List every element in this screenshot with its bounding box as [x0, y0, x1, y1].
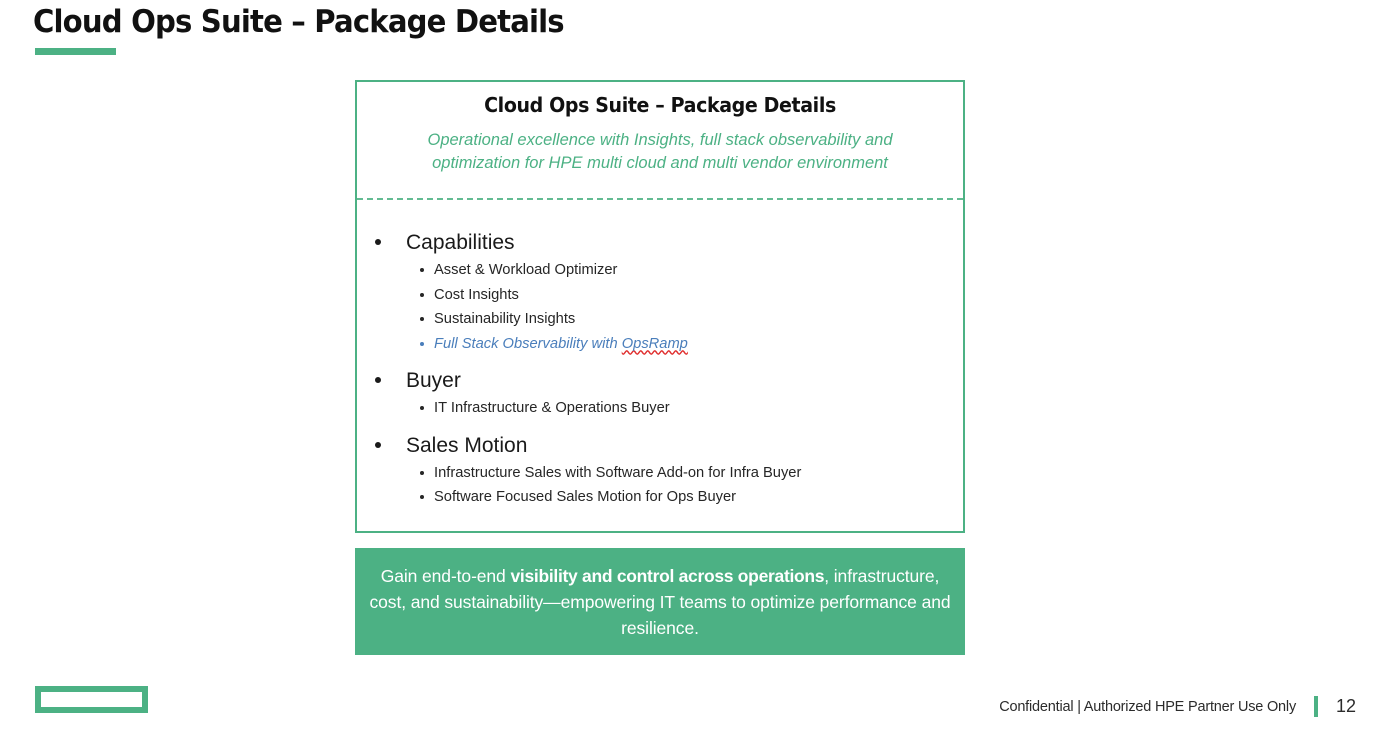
list-item: IT Infrastructure & Operations Buyer [406, 396, 953, 421]
bullet-section-sales-motion: Sales Motion Infrastructure Sales with S… [373, 432, 953, 510]
sub-bullet-dot-icon [420, 293, 424, 297]
sub-bullet-dot-icon [420, 406, 424, 410]
page-number: 12 [1334, 696, 1356, 717]
capabilities-list: Capabilities Asset & Workload Optimizer … [373, 229, 953, 510]
section-heading: Capabilities [406, 231, 515, 254]
list-item: Software Focused Sales Motion for Ops Bu… [406, 485, 953, 510]
spellcheck-flagged-word[interactable]: OpsRamp [622, 336, 688, 352]
value-statement-callout: Gain end-to-end visibility and control a… [355, 548, 965, 655]
list-item-label: Cost Insights [434, 287, 519, 303]
package-details-card: Cloud Ops Suite – Package Details Operat… [355, 80, 965, 533]
confidentiality-note: Confidential | Authorized HPE Partner Us… [999, 699, 1296, 715]
sub-bullet-dot-icon [420, 471, 424, 475]
list-item-label: Infrastructure Sales with Software Add-o… [434, 465, 801, 481]
sub-list: IT Infrastructure & Operations Buyer [406, 396, 953, 421]
list-item-opsramp-link[interactable]: Full Stack Observability with OpsRamp [406, 332, 953, 357]
list-item-label: Asset & Workload Optimizer [434, 262, 617, 278]
list-item-label: Full Stack Observability with [434, 336, 622, 352]
sub-list: Asset & Workload Optimizer Cost Insights… [406, 258, 953, 356]
section-heading: Buyer [406, 369, 461, 392]
bullet-section-capabilities: Capabilities Asset & Workload Optimizer … [373, 229, 953, 356]
sub-list: Infrastructure Sales with Software Add-o… [406, 461, 953, 510]
sub-bullet-dot-icon [420, 342, 424, 346]
slide-canvas: Cloud Ops Suite – Package Details Cloud … [0, 0, 1380, 737]
footer: Confidential | Authorized HPE Partner Us… [999, 696, 1356, 717]
hpe-logo [35, 686, 148, 713]
section-heading: Sales Motion [406, 434, 527, 457]
bullet-section-buyer: Buyer IT Infrastructure & Operations Buy… [373, 367, 953, 421]
list-item-label: Software Focused Sales Motion for Ops Bu… [434, 489, 736, 505]
list-item-label: Sustainability Insights [434, 311, 575, 327]
bullet-dot-icon [375, 442, 381, 448]
sub-bullet-dot-icon [420, 317, 424, 321]
list-item: Infrastructure Sales with Software Add-o… [406, 461, 953, 486]
callout-lead: Gain end-to-end [381, 566, 511, 586]
card-title: Cloud Ops Suite – Package Details [372, 93, 948, 117]
callout-text: Gain end-to-end visibility and control a… [355, 563, 965, 641]
card-divider [357, 198, 963, 200]
bullet-dot-icon [375, 239, 381, 245]
card-subtitle: Operational excellence with Insights, fu… [400, 129, 920, 175]
callout-bold-phrase: visibility and control across operations [510, 566, 824, 586]
footer-separator [1314, 696, 1318, 717]
title-accent-bar [35, 48, 116, 55]
bullet-dot-icon [375, 377, 381, 383]
list-item: Cost Insights [406, 283, 953, 308]
list-item: Sustainability Insights [406, 307, 953, 332]
list-item: Asset & Workload Optimizer [406, 258, 953, 283]
page-title: Cloud Ops Suite – Package Details [33, 4, 564, 40]
list-item-label: IT Infrastructure & Operations Buyer [434, 400, 670, 416]
sub-bullet-dot-icon [420, 268, 424, 272]
sub-bullet-dot-icon [420, 495, 424, 499]
